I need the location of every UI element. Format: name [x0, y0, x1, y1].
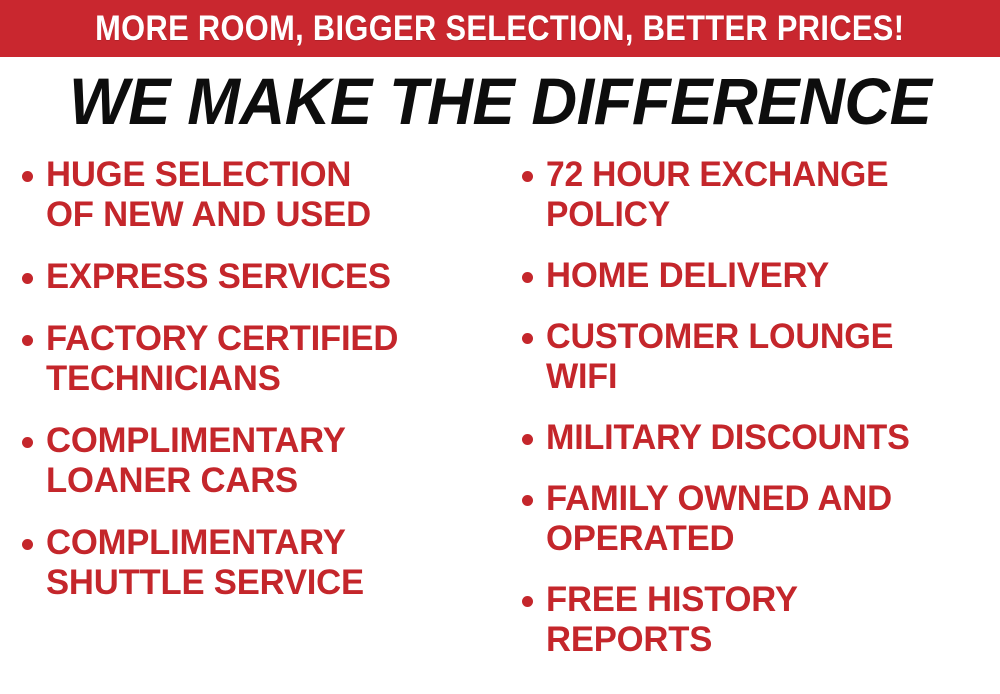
list-item: FAMILY OWNED AND OPERATED: [522, 479, 1000, 559]
list-item-label: MILITARY DISCOUNTS: [546, 418, 989, 458]
list-item: FACTORY CERTIFIED TECHNICIANS: [22, 319, 510, 399]
bullet-dot-icon: [22, 539, 33, 550]
benefits-column-left: HUGE SELECTION OF NEW AND USED EXPRESS S…: [0, 155, 510, 625]
list-item: MILITARY DISCOUNTS: [522, 418, 1000, 458]
bullet-dot-icon: [22, 273, 33, 284]
list-item: HUGE SELECTION OF NEW AND USED: [22, 155, 510, 235]
list-item: HOME DELIVERY: [522, 256, 1000, 296]
bullet-dot-icon: [522, 596, 533, 607]
bullet-dot-icon: [522, 434, 533, 445]
list-item: COMPLIMENTARY SHUTTLE SERVICE: [22, 523, 510, 603]
top-banner: MORE ROOM, BIGGER SELECTION, BETTER PRIC…: [0, 0, 1000, 57]
list-item-label: 72 HOUR EXCHANGE POLICY: [546, 155, 982, 235]
list-item: EXPRESS SERVICES: [22, 257, 510, 297]
headline-container: WE MAKE THE DIFFERENCE: [0, 62, 1000, 140]
list-item: CUSTOMER LOUNGE WIFI: [522, 317, 1000, 397]
list-item-label: FAMILY OWNED AND OPERATED: [546, 479, 995, 559]
promo-flyer: { "colors": { "banner_bg": "#c9272f", "b…: [0, 0, 1000, 694]
list-item-label: HUGE SELECTION OF NEW AND USED: [46, 155, 505, 235]
top-banner-text: MORE ROOM, BIGGER SELECTION, BETTER PRIC…: [95, 11, 904, 46]
bullet-dot-icon: [22, 437, 33, 448]
bullet-dot-icon: [522, 333, 533, 344]
bullet-dot-icon: [522, 272, 533, 283]
page-title: WE MAKE THE DIFFERENCE: [69, 68, 931, 134]
list-item: FREE HISTORY REPORTS: [522, 580, 1000, 660]
benefits-column-right: 72 HOUR EXCHANGE POLICY HOME DELIVERY CU…: [510, 155, 1000, 681]
bullet-dot-icon: [22, 171, 33, 182]
list-item: 72 HOUR EXCHANGE POLICY: [522, 155, 1000, 235]
bullet-dot-icon: [522, 171, 533, 182]
bullet-dot-icon: [22, 335, 33, 346]
list-item-label: EXPRESS SERVICES: [46, 257, 505, 297]
benefits-columns: HUGE SELECTION OF NEW AND USED EXPRESS S…: [0, 155, 1000, 694]
list-item-label: FACTORY CERTIFIED TECHNICIANS: [46, 319, 505, 399]
list-item-label: HOME DELIVERY: [546, 256, 995, 296]
list-item-label: FREE HISTORY REPORTS: [546, 580, 995, 660]
list-item-label: COMPLIMENTARY SHUTTLE SERVICE: [46, 523, 505, 603]
list-item: COMPLIMENTARY LOANER CARS: [22, 421, 510, 501]
list-item-label: COMPLIMENTARY LOANER CARS: [46, 421, 505, 501]
list-item-label: CUSTOMER LOUNGE WIFI: [546, 317, 989, 397]
bullet-dot-icon: [522, 495, 533, 506]
